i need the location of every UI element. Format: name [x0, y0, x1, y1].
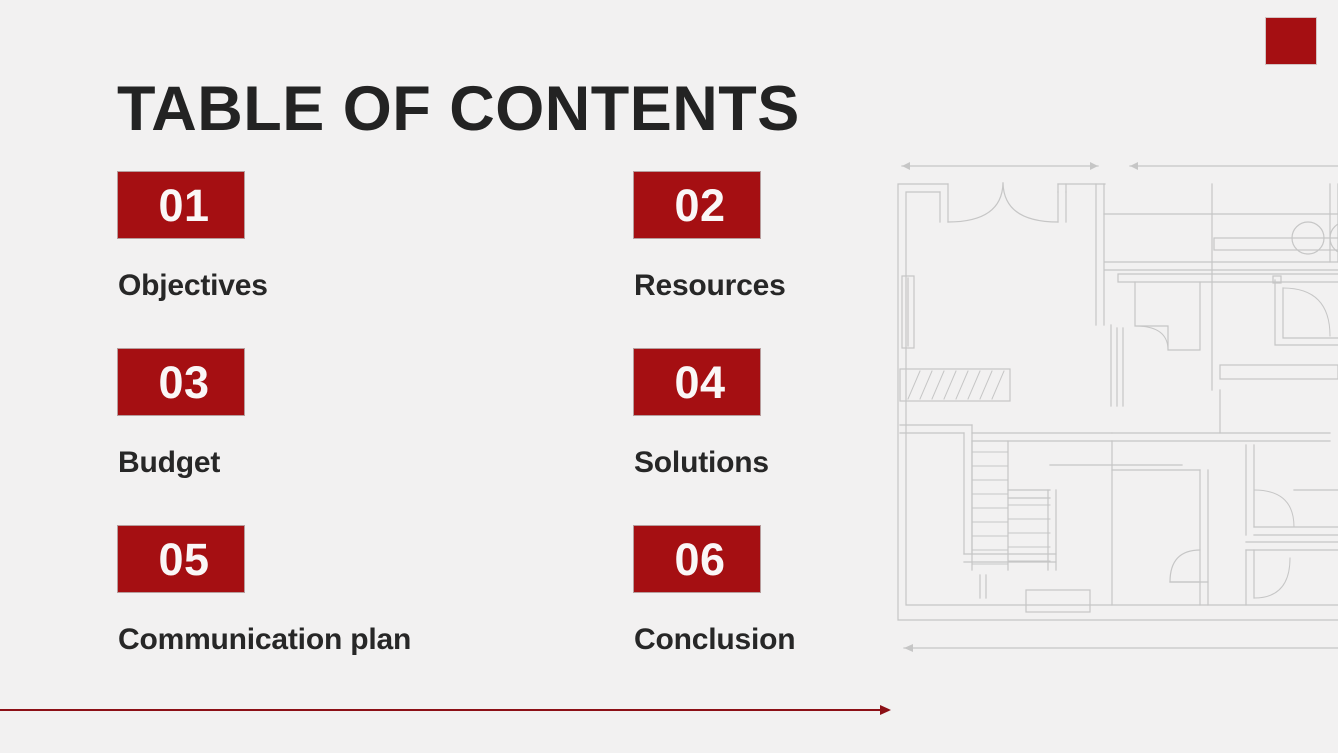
number-badge-05: 05 [118, 526, 244, 592]
number-badge-label: 06 [674, 537, 725, 582]
bottom-arrow-rule [0, 697, 895, 723]
window-left [902, 276, 914, 348]
hatched-block [900, 369, 1010, 401]
number-badge-label: 05 [158, 537, 209, 582]
number-badge-label: 03 [158, 360, 209, 405]
staircase [964, 441, 1056, 570]
floorplan-illustration [890, 150, 1338, 660]
toc-item-04[interactable]: 04 Solutions [634, 349, 878, 526]
toc-item-03[interactable]: 03 Budget [118, 349, 634, 526]
slide-table-of-contents: TABLE OF CONTENTS 01 Objectives 02 Resou… [0, 0, 1338, 753]
page-title: TABLE OF CONTENTS [117, 78, 800, 141]
toc-item-06[interactable]: 06 Conclusion [634, 526, 878, 703]
lower-internal-walls [900, 390, 1330, 554]
number-badge-06: 06 [634, 526, 760, 592]
toc-item-01[interactable]: 01 Objectives [118, 172, 634, 349]
bathroom-right [1273, 276, 1338, 345]
number-badge-04: 04 [634, 349, 760, 415]
dimension-line-top-left [902, 162, 1098, 170]
right-lower-rooms [1246, 445, 1338, 605]
kitchen-counter [1214, 238, 1338, 250]
number-badge-label: 01 [158, 183, 209, 228]
toc-label-02: Resources [634, 269, 878, 303]
red-accent-square [1266, 18, 1316, 64]
table-of-contents-grid: 01 Objectives 02 Resources 03 Budget 04 … [118, 172, 878, 703]
upper-right-walls [1104, 184, 1338, 390]
number-badge-label: 04 [674, 360, 725, 405]
toc-label-05: Communication plan [118, 623, 634, 657]
number-badge-01: 01 [118, 172, 244, 238]
toc-item-02[interactable]: 02 Resources [634, 172, 878, 349]
toc-item-05[interactable]: 05 Communication plan [118, 526, 634, 703]
number-badge-03: 03 [118, 349, 244, 415]
number-badge-02: 02 [634, 172, 760, 238]
vertical-shaft [1111, 325, 1123, 406]
middle-room [1135, 282, 1200, 350]
dimension-line-bottom [904, 644, 1338, 652]
toc-label-03: Budget [118, 446, 634, 480]
toc-label-04: Solutions [634, 446, 878, 480]
door-swing-entry [948, 183, 1058, 222]
number-badge-label: 02 [674, 183, 725, 228]
dimension-line-top-right [1130, 162, 1338, 170]
bottom-features [980, 575, 1090, 612]
toc-label-01: Objectives [118, 269, 634, 303]
toc-label-06: Conclusion [634, 623, 878, 657]
